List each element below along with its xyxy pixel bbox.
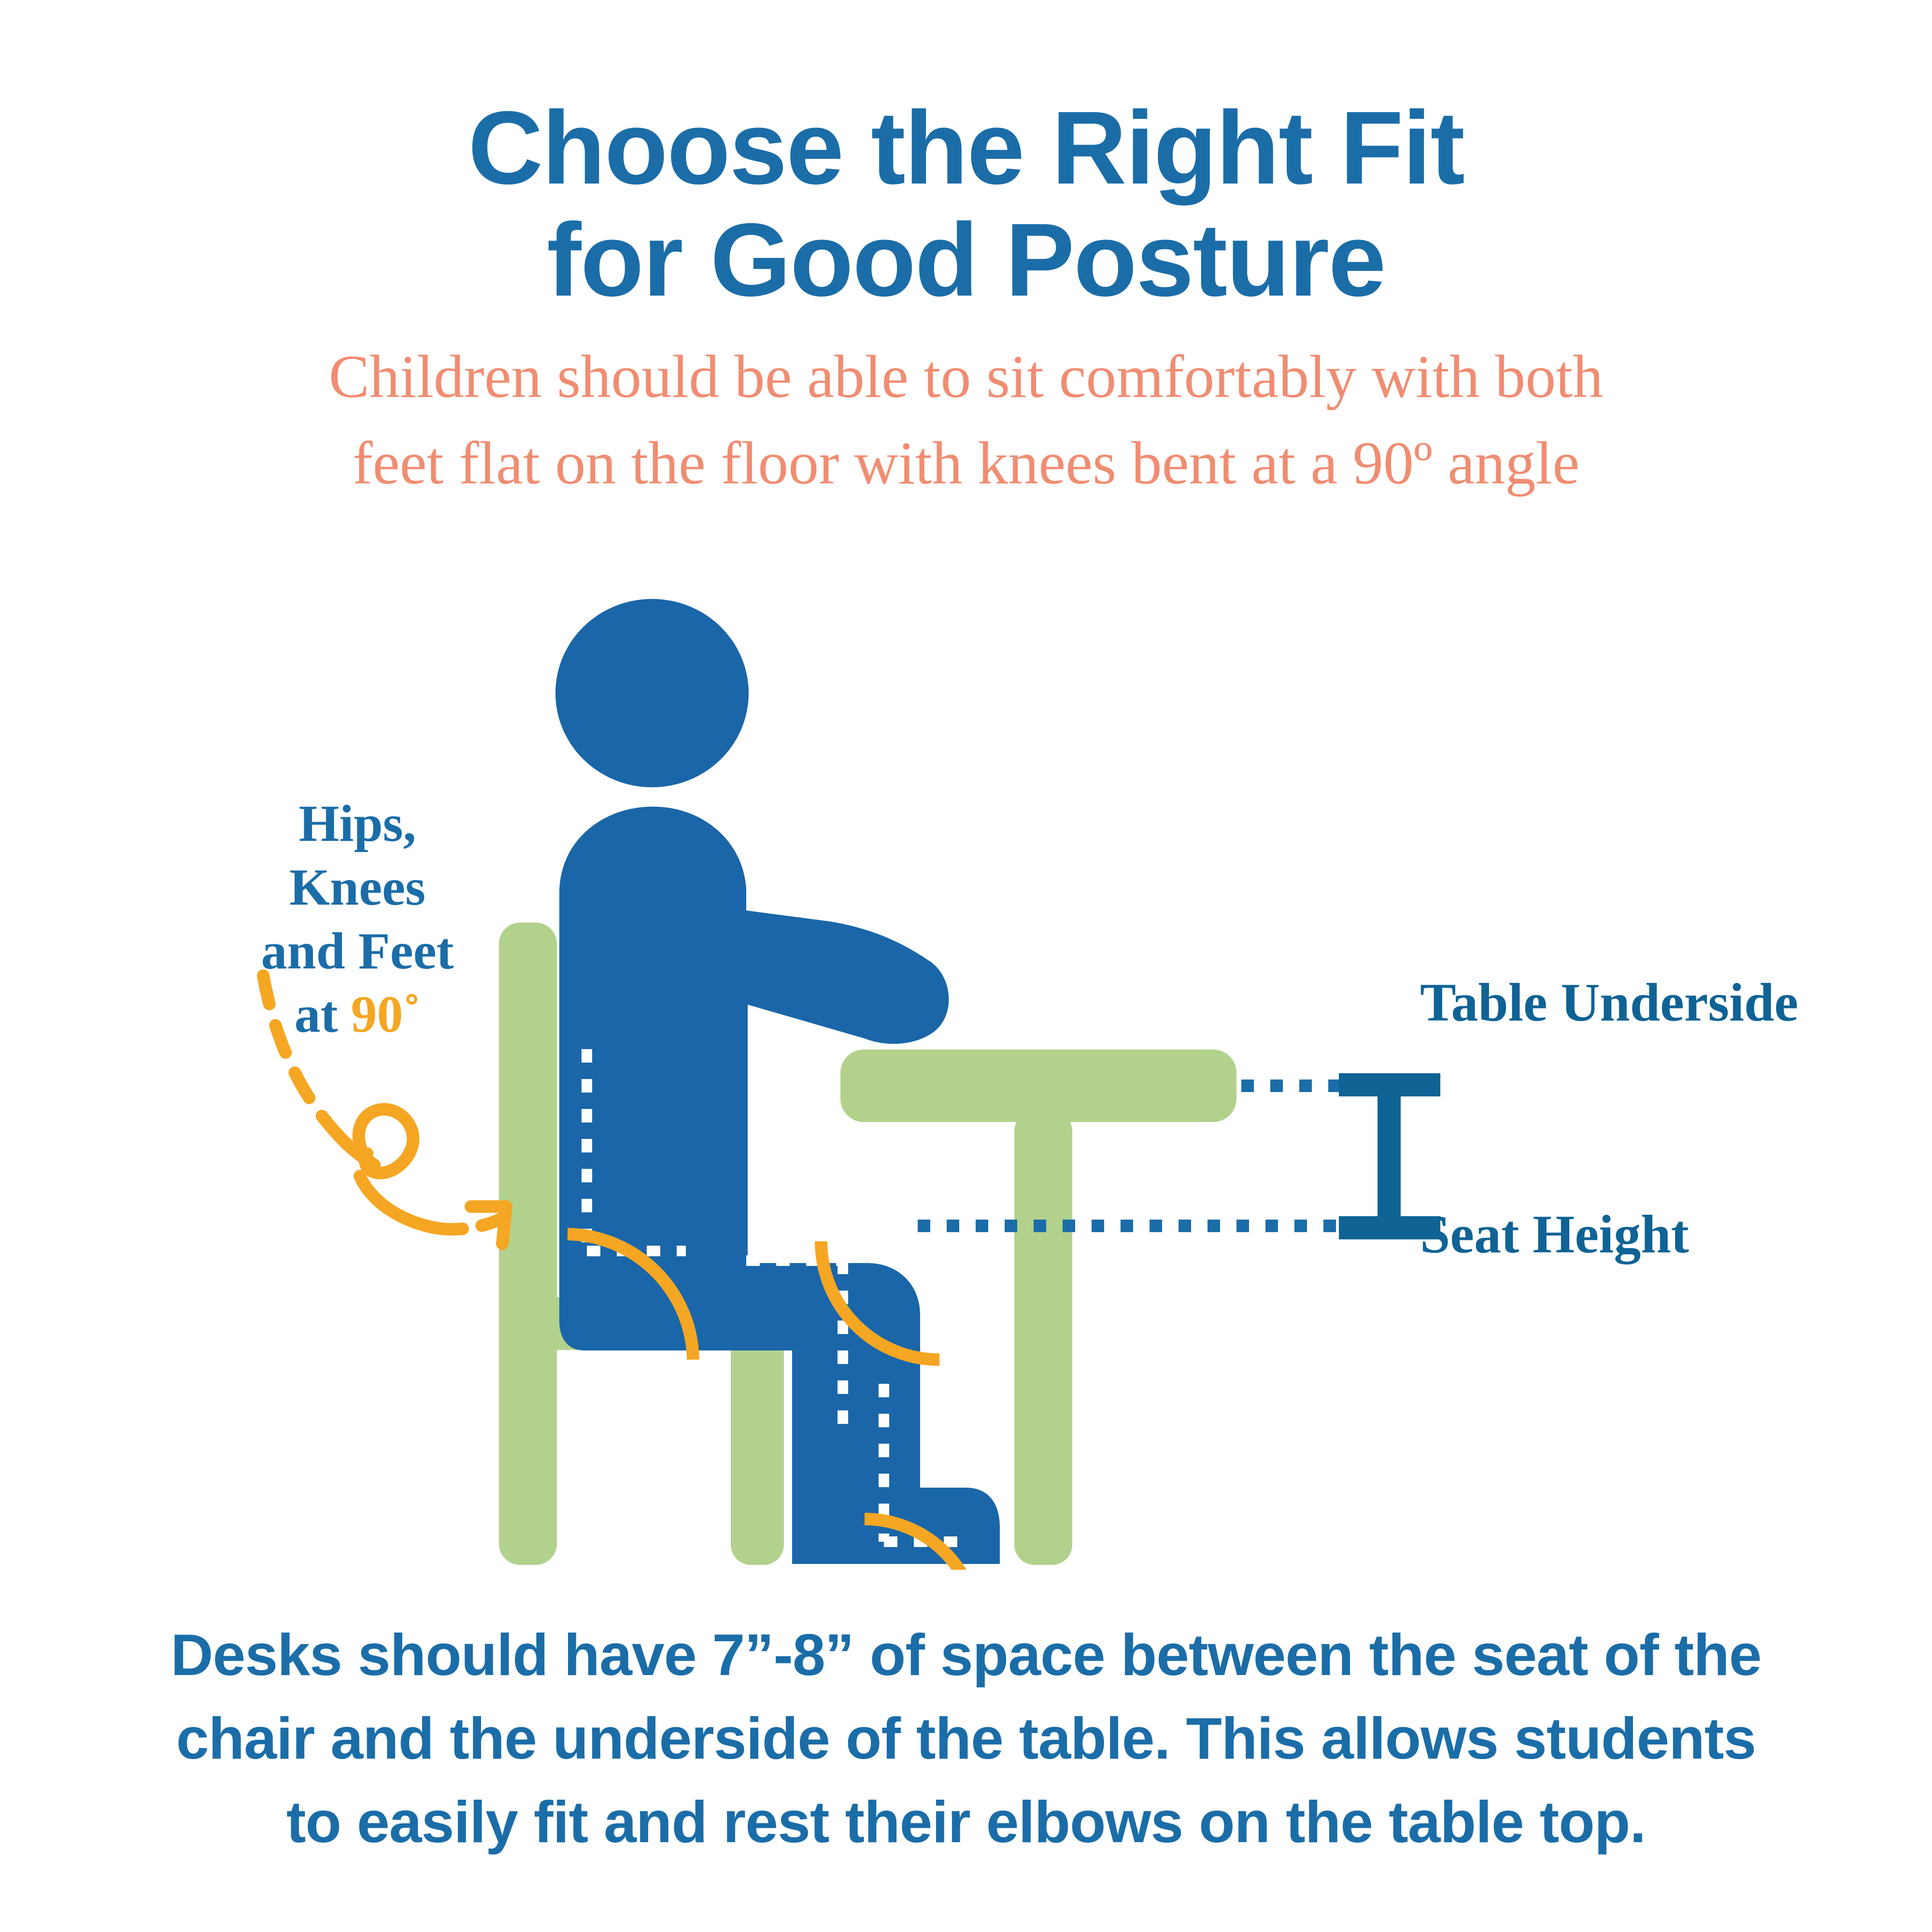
infographic-poster: Choose the Right Fit for Good Posture Ch… [0,0,1932,1932]
page-title-line-1: Choose the Right Fit [0,92,1932,204]
bottom-note-line-3: to easily fit and rest their elbows on t… [97,1780,1835,1864]
arrow-approach-dashed [435,1218,502,1229]
page-subtitle-line-2: feet flat on the floor with knees bent a… [0,421,1932,507]
arrow-loop [359,1109,413,1173]
posture-diagram [0,555,1932,1570]
arrow-post-loop [360,1176,435,1228]
person-head [555,599,749,787]
bottom-note-line-1: Desks should have 7”-8” of space between… [97,1613,1835,1697]
page-title-line-2: for Good Posture [0,204,1932,316]
table-leg [1014,1111,1072,1565]
vertical-measure-bracket-icon [1339,1073,1440,1239]
curved-dashed-arrow-icon [263,976,506,1244]
arrow-tail-dashed [263,976,338,1135]
bracket-bottom-cap [1339,1216,1440,1239]
bottom-note: Desks should have 7”-8” of space between… [97,1613,1835,1864]
page-title: Choose the Right Fit for Good Posture [0,92,1932,316]
page-subtitle: Children should be able to sit comfortab… [0,334,1932,507]
header: Choose the Right Fit for Good Posture Ch… [0,92,1932,507]
bottom-note-line-2: chair and the underside of the table. Th… [97,1697,1835,1780]
chair-front-leg [731,1314,784,1565]
page-subtitle-line-1: Children should be able to sit comfortab… [0,334,1932,421]
bracket-stem [1378,1073,1401,1239]
